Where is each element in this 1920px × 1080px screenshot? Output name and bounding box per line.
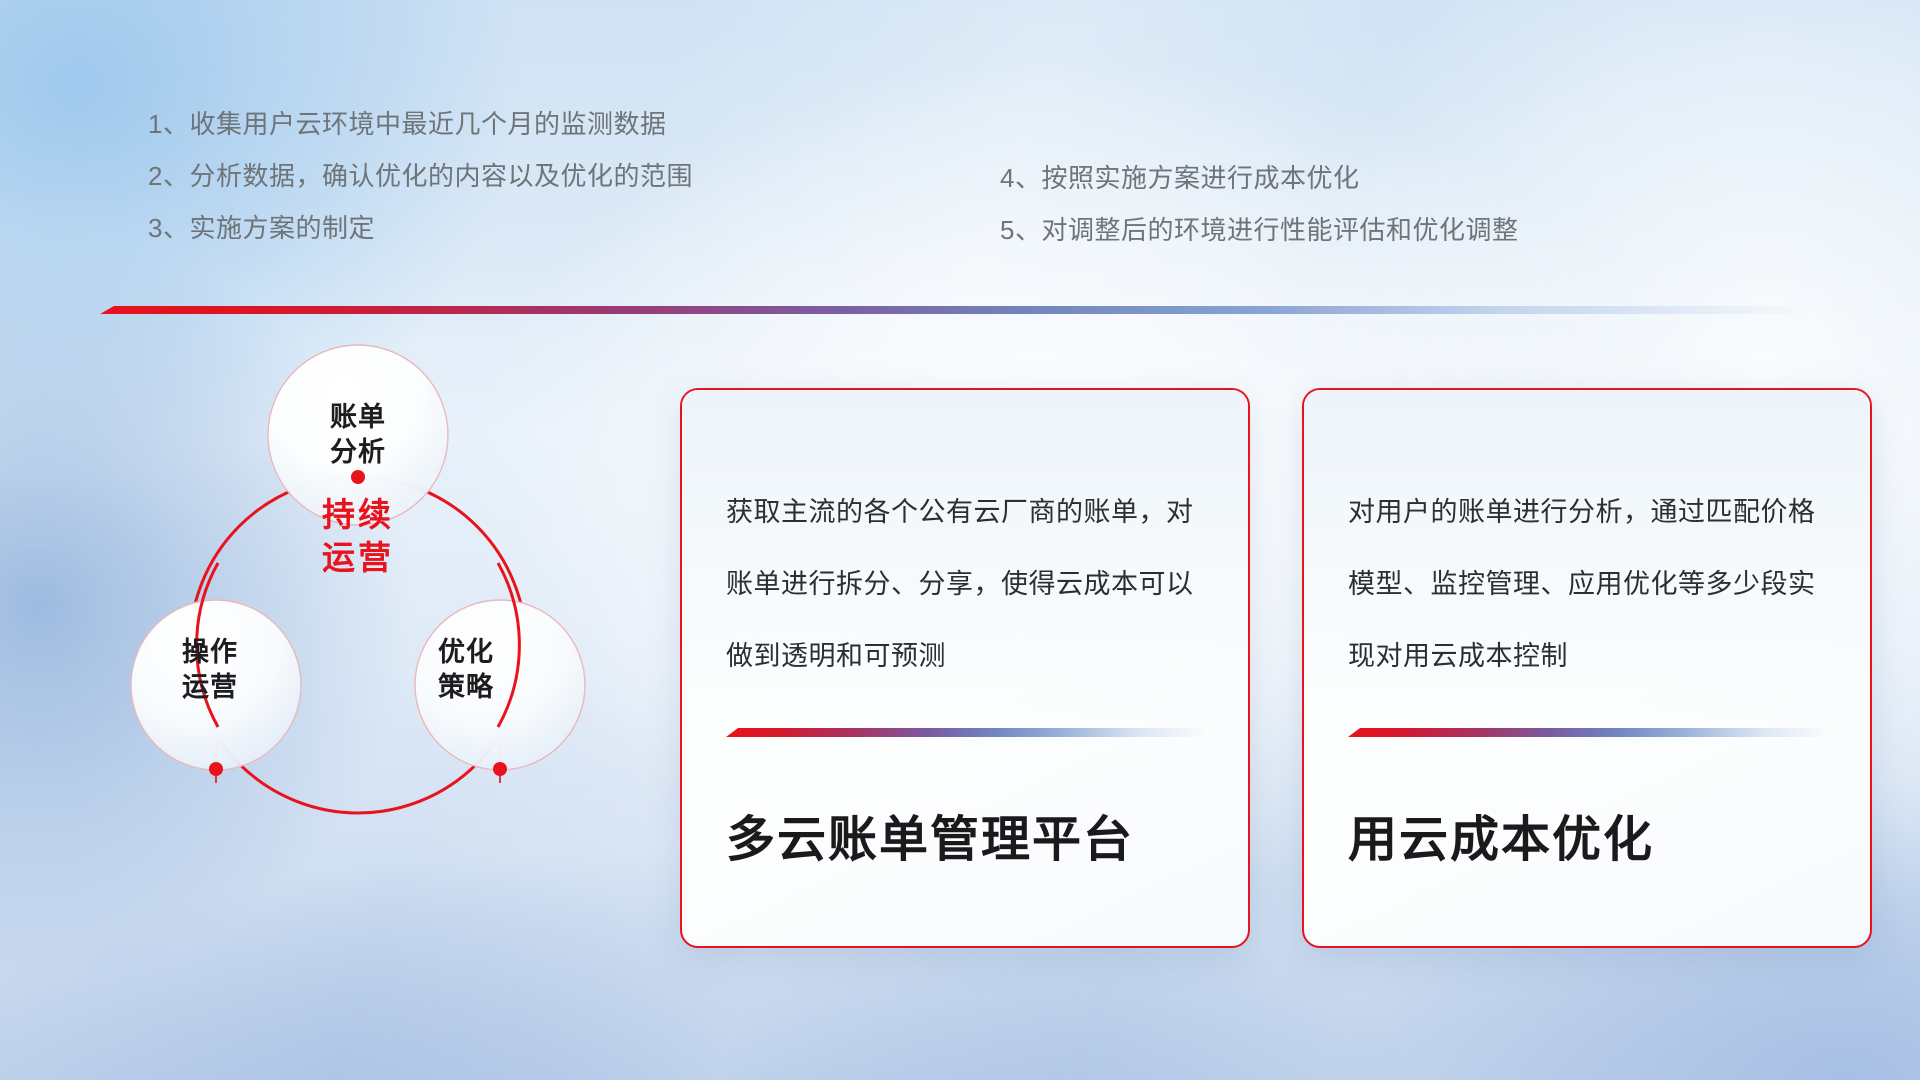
card-body-text: 获取主流的各个公有云厂商的账单，对账单进行拆分、分享，使得云成本可以做到透明和可… [726, 476, 1204, 692]
card-multi-cloud-billing[interactable]: 获取主流的各个公有云厂商的账单，对账单进行拆分、分享，使得云成本可以做到透明和可… [680, 388, 1250, 948]
venn-node-top-line1: 账单 [268, 400, 448, 435]
venn-node-top-line2: 分析 [268, 435, 448, 470]
venn-dot-left [209, 762, 223, 776]
steps-left-column: 1、收集用户云环境中最近几个月的监测数据 2、分析数据，确认优化的内容以及优化的… [148, 98, 693, 254]
step-item-2: 2、分析数据，确认优化的内容以及优化的范围 [148, 150, 693, 202]
venn-dot-right [493, 762, 507, 776]
step-item-4: 4、按照实施方案进行成本优化 [1000, 152, 1518, 204]
step-item-1: 1、收集用户云环境中最近几个月的监测数据 [148, 98, 693, 150]
venn-node-right-line1: 优化 [376, 635, 556, 670]
step-item-5: 5、对调整后的环境进行性能评估和优化调整 [1000, 204, 1518, 256]
card-body-text: 对用户的账单进行分析，通过匹配价格模型、监控管理、应用优化等多少段实现对用云成本… [1348, 476, 1826, 692]
venn-node-right-label: 优化 策略 [376, 635, 556, 705]
venn-node-right-line2: 策略 [376, 670, 556, 705]
card-inner: 获取主流的各个公有云厂商的账单，对账单进行拆分、分享，使得云成本可以做到透明和可… [682, 390, 1248, 946]
step-item-3: 3、实施方案的制定 [148, 202, 693, 254]
venn-node-top-label: 账单 分析 [268, 400, 448, 470]
venn-center-line1: 持续 [248, 493, 468, 536]
venn-node-left-label: 操作 运营 [120, 635, 300, 705]
venn-center-line2: 运营 [248, 536, 468, 579]
gradient-divider [100, 306, 1810, 314]
venn-dot-top [351, 470, 365, 484]
venn-node-left-line1: 操作 [120, 635, 300, 670]
card-inner: 对用户的账单进行分析，通过匹配价格模型、监控管理、应用优化等多少段实现对用云成本… [1304, 390, 1870, 946]
venn-node-left-line2: 运营 [120, 670, 300, 705]
venn-diagram: 账单 分析 操作 运营 优化 策略 持续 运营 [78, 345, 638, 925]
card-cloud-cost-optimization[interactable]: 对用户的账单进行分析，通过匹配价格模型、监控管理、应用优化等多少段实现对用云成本… [1302, 388, 1872, 948]
steps-right-column: 4、按照实施方案进行成本优化 5、对调整后的环境进行性能评估和优化调整 [1000, 152, 1518, 256]
venn-center-label: 持续 运营 [248, 493, 468, 579]
